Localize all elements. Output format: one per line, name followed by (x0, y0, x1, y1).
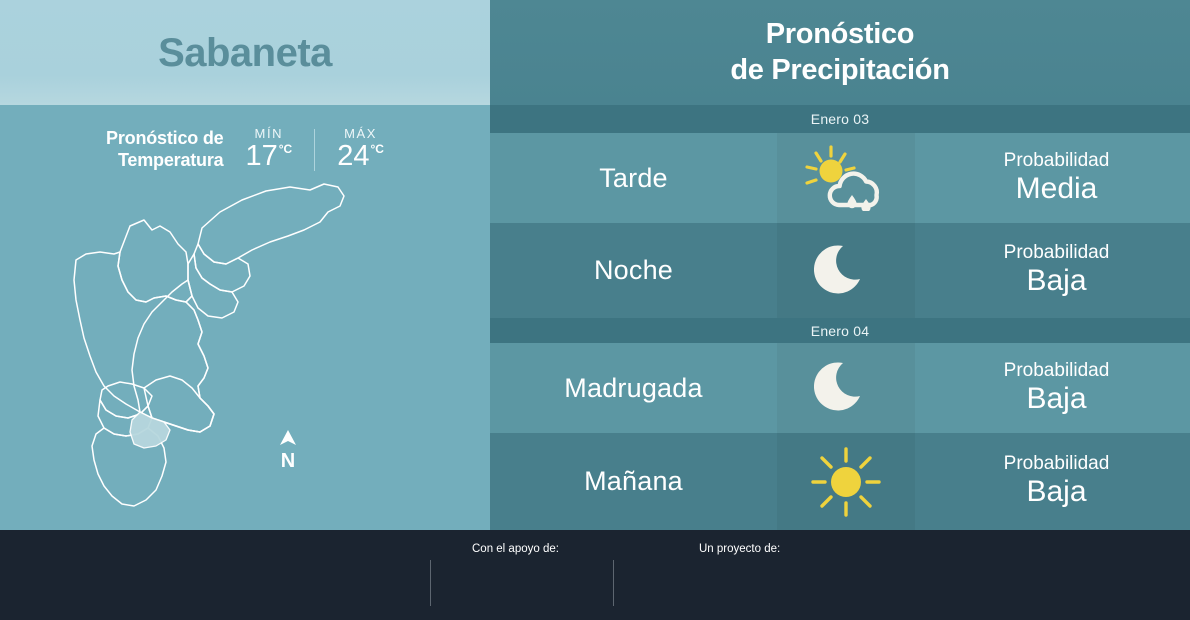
date-bar: Enero 03 (490, 105, 1190, 133)
probability-label: Probabilidad (1004, 360, 1110, 382)
temperature-min-unit: °C (279, 143, 292, 156)
aburra-valley-map (52, 160, 382, 520)
temperature-title-line1: Pronóstico de (106, 128, 223, 150)
page-title: Sabaneta (158, 33, 332, 73)
period-label: Mañana (490, 433, 777, 530)
support-caption: Con el apoyo de: (472, 543, 559, 555)
period-label: Tarde (490, 133, 777, 223)
probability-label: Probabilidad (1004, 150, 1110, 172)
left-panel: Sabaneta Pronóstico de Temperatura MÍN 1… (0, 0, 490, 530)
forecast-title-line1: Pronóstico (766, 17, 914, 52)
probability-value: Baja (1026, 382, 1086, 417)
probability-cell: Probabilidad Baja (915, 343, 1190, 433)
moon-icon (814, 239, 878, 303)
probability-label: Probabilidad (1004, 242, 1110, 264)
footer: Con el apoyo de: Un proyecto de: SIATA e… (0, 530, 1190, 620)
forecast-title: Pronóstico de Precipitación (490, 0, 1190, 105)
temperature-max-unit: °C (370, 143, 383, 156)
period-label: Madrugada (490, 343, 777, 433)
probability-cell: Probabilidad Baja (915, 223, 1190, 318)
period-label: Noche (490, 223, 777, 318)
footer-divider (613, 560, 614, 606)
city-banner: Sabaneta (0, 0, 490, 105)
probability-value: Baja (1026, 264, 1086, 299)
weather-icon-cell (777, 133, 915, 223)
probability-label: Probabilidad (1004, 453, 1110, 475)
date-label: Enero 03 (811, 111, 869, 127)
weather-forecast-card: Sabaneta Pronóstico de Temperatura MÍN 1… (0, 0, 1190, 620)
probability-value: Media (1016, 172, 1098, 207)
moon-icon (814, 356, 878, 420)
sun-rain-cloud-icon (804, 145, 888, 211)
sun-icon (810, 446, 882, 518)
compass-label: N (278, 452, 298, 470)
forecast-row[interactable]: Tarde Pro (490, 133, 1190, 223)
map-panel: Pronóstico de Temperatura MÍN 17 °C MÁX … (0, 105, 490, 530)
north-arrow-icon (278, 430, 298, 446)
probability-cell: Probabilidad Baja (915, 433, 1190, 530)
date-bar: Enero 04 (490, 318, 1190, 343)
forecast-row[interactable]: Mañana Probabili (490, 433, 1190, 530)
weather-icon-cell (777, 433, 915, 530)
weather-icon-cell (777, 343, 915, 433)
forecast-row[interactable]: Noche Probabilidad Baja (490, 223, 1190, 318)
footer-divider (430, 560, 431, 606)
forecast-row[interactable]: Madrugada Probabilidad Baja (490, 343, 1190, 433)
project-caption: Un proyecto de: (699, 543, 780, 555)
date-label: Enero 04 (811, 323, 869, 339)
forecast-panel: Pronóstico de Precipitación Enero 03 Tar… (490, 0, 1190, 530)
temperature-max-label: MÁX (337, 127, 384, 140)
compass: N (278, 430, 298, 470)
forecast-title-line2: de Precipitación (730, 53, 949, 88)
temperature-min-label: MÍN (245, 127, 292, 140)
weather-icon-cell (777, 223, 915, 318)
probability-cell: Probabilidad Media (915, 133, 1190, 223)
probability-value: Baja (1026, 475, 1086, 510)
